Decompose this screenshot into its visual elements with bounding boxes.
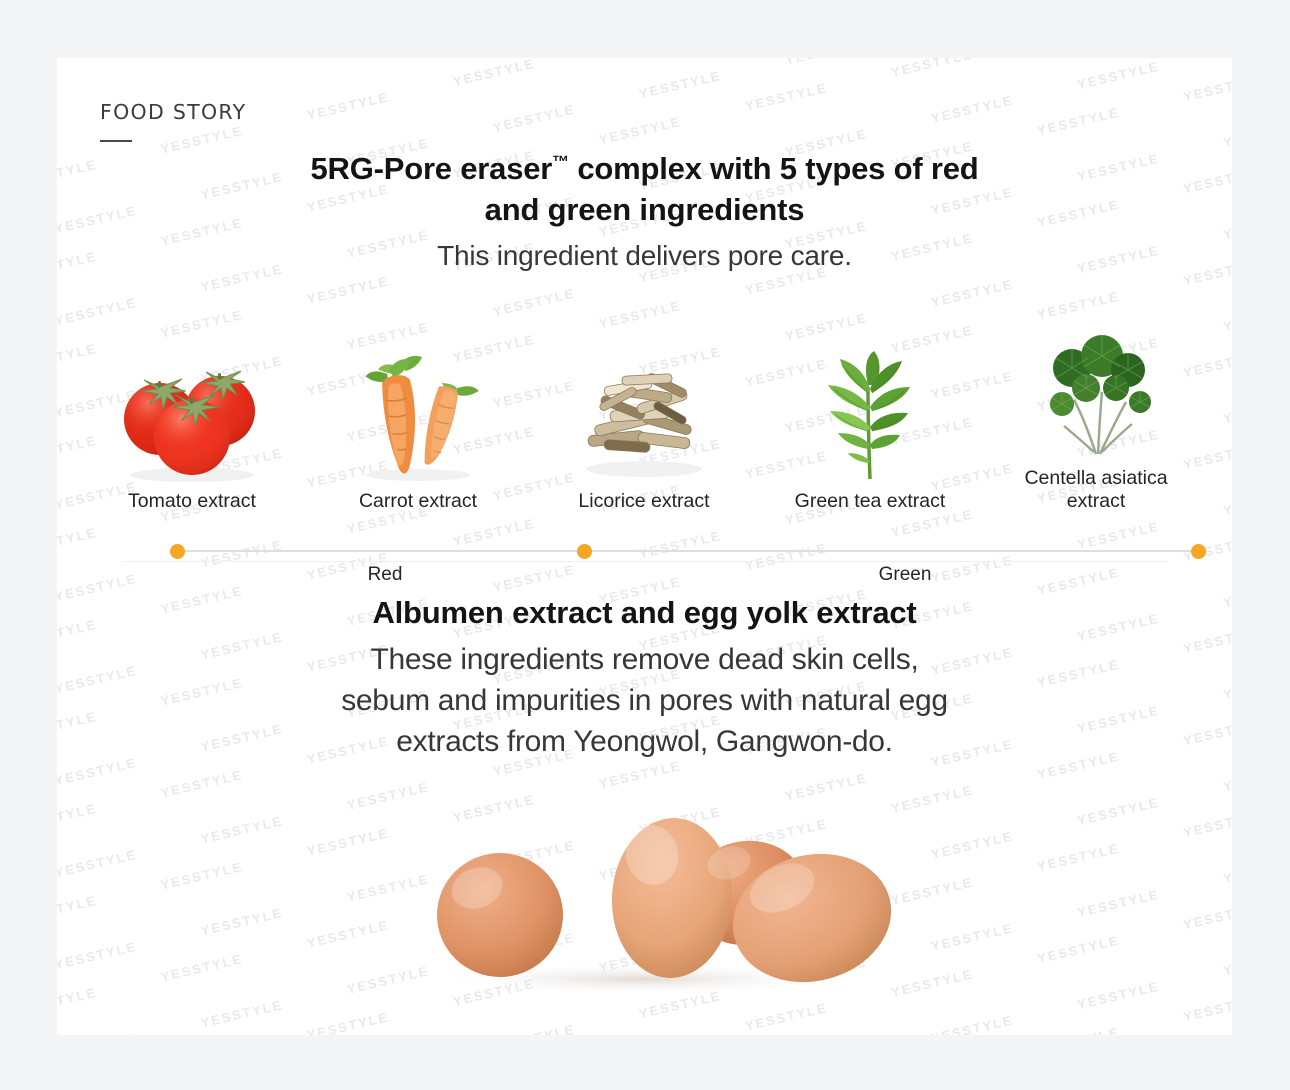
ingredient-axis-line [177,550,1199,552]
ingredient-label-tomato: Tomato extract [128,490,256,513]
ingredient-item-centella: Centella asiatica extract [983,308,1209,513]
egg-body-text: These ingredients remove dead skin cells… [57,639,1232,762]
ingredients-heading-line1-a: 5RG-Pore eraser [310,151,552,186]
watermark-row: YESSTYLEYESSTYLEYESSTYLEYESSTYLEYESSTYLE… [57,1011,1232,1035]
axis-marker-start [170,544,185,559]
axis-caption-red: Red [368,564,403,586]
egg-heading: Albumen extract and egg yolk extract [57,593,1232,633]
ingredient-label-licorice: Licorice extract [578,490,709,513]
food-story-card: YESSTYLEYESSTYLEYESSTYLEYESSTYLEYESSTYLE… [57,58,1232,1035]
tomato-icon [112,349,272,484]
page-root: YESSTYLEYESSTYLEYESSTYLEYESSTYLEYESSTYLE… [0,0,1290,1090]
ingredient-list: Tomato extract [79,308,1209,513]
axis-caption-green: Green [879,564,932,586]
axis-marker-middle [577,544,592,559]
greentea-icon [790,349,950,484]
eyebrow-label: FOOD STORY [100,102,247,123]
ingredients-heading-line1-b: complex with 5 types of red [569,151,979,186]
axis-marker-end [1191,544,1206,559]
ingredient-label-carrot: Carrot extract [359,490,477,513]
ingredient-item-licorice: Licorice extract [531,308,757,513]
ingredients-heading-line2: and green ingredients [485,192,805,227]
egg-body-line-2: sebum and impurities in pores with natur… [341,684,948,717]
ingredient-item-tomato: Tomato extract [79,308,305,513]
trademark-symbol: ™ [552,153,569,172]
eggs-image [57,793,1232,1008]
centella-icon [1016,326,1176,461]
ingredient-label-greentea: Green tea extract [795,490,946,513]
section-eyebrow: FOOD STORY [100,102,247,142]
ingredients-subheading: This ingredient delivers pore care. [57,238,1232,274]
ingredient-item-carrot: Carrot extract [305,308,531,513]
egg-body-line-1: These ingredients remove dead skin cells… [371,643,919,676]
section-divider [123,561,1168,562]
licorice-icon [564,349,724,484]
eyebrow-rule [100,140,132,142]
ingredient-item-greentea: Green tea extract [757,308,983,513]
ingredient-label-centella: Centella asiatica extract [1006,467,1186,513]
ingredients-heading: 5RG-Pore eraser™ complex with 5 types of… [57,148,1232,230]
axis-captions: Red Green [177,564,1199,594]
ingredients-section-header: 5RG-Pore eraser™ complex with 5 types of… [57,148,1232,274]
carrot-icon [338,349,498,484]
egg-body-line-3: extracts from Yeongwol, Gangwon-do. [396,725,892,758]
egg-section-header: Albumen extract and egg yolk extract The… [57,593,1232,762]
